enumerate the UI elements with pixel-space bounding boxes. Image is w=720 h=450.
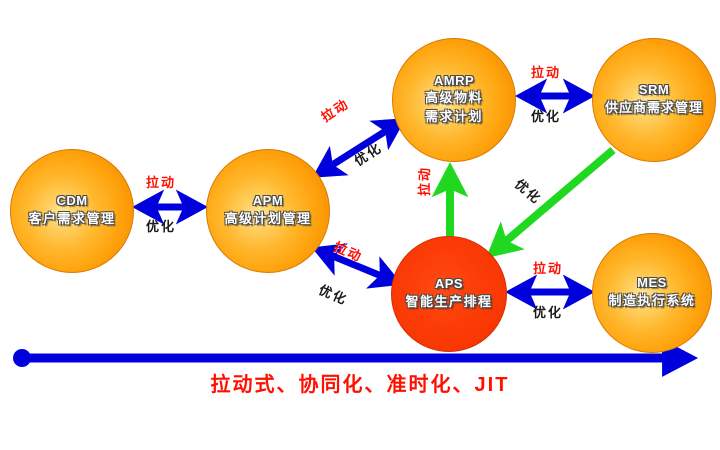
- node-mes-name: 制造执行系统: [608, 292, 695, 311]
- edge-label-cdm-apm-optimize: 优化: [146, 220, 176, 233]
- node-aps-name: 智能生产排程: [405, 293, 492, 312]
- node-apm-abbr: APM: [253, 193, 283, 209]
- edge-label-aps-mes-optimize: 优化: [533, 306, 563, 319]
- node-srm-abbr: SRM: [639, 82, 669, 98]
- diagram-canvas: CDM 客户需求管理 APM 高级计划管理 AMRP 高级物料 需求计划 SRM…: [0, 0, 720, 450]
- edge-label-aps-mes-pull: 拉动: [533, 262, 563, 275]
- connector-srm-aps-green: [492, 150, 613, 253]
- node-amrp[interactable]: AMRP 高级物料 需求计划: [392, 38, 516, 162]
- node-cdm-abbr: CDM: [56, 193, 87, 209]
- node-aps[interactable]: APS 智能生产排程: [391, 236, 507, 352]
- node-cdm[interactable]: CDM 客户需求管理: [10, 149, 134, 273]
- node-amrp-abbr: AMRP: [434, 73, 474, 89]
- node-apm-name: 高级计划管理: [224, 210, 311, 229]
- node-mes[interactable]: MES 制造执行系统: [592, 233, 712, 353]
- bottom-axis-caption: 拉动式、协同化、准时化、JIT: [0, 368, 720, 397]
- edge-label-cdm-apm-pull: 拉动: [146, 176, 176, 189]
- edge-label-amrp-srm-optimize: 优化: [531, 110, 561, 123]
- node-amrp-name-line2: 需求计划: [425, 108, 483, 127]
- node-mes-abbr: MES: [637, 275, 667, 291]
- node-aps-abbr: APS: [435, 276, 463, 292]
- node-srm[interactable]: SRM 供应商需求管理: [592, 38, 716, 162]
- edge-label-amrp-srm-pull: 拉动: [531, 66, 561, 79]
- edge-label-aps-amrp-pull: 拉动: [418, 166, 431, 196]
- node-srm-name: 供应商需求管理: [605, 99, 703, 118]
- node-cdm-name: 客户需求管理: [28, 210, 115, 229]
- node-amrp-name-line1: 高级物料: [425, 89, 483, 108]
- node-apm[interactable]: APM 高级计划管理: [206, 149, 330, 273]
